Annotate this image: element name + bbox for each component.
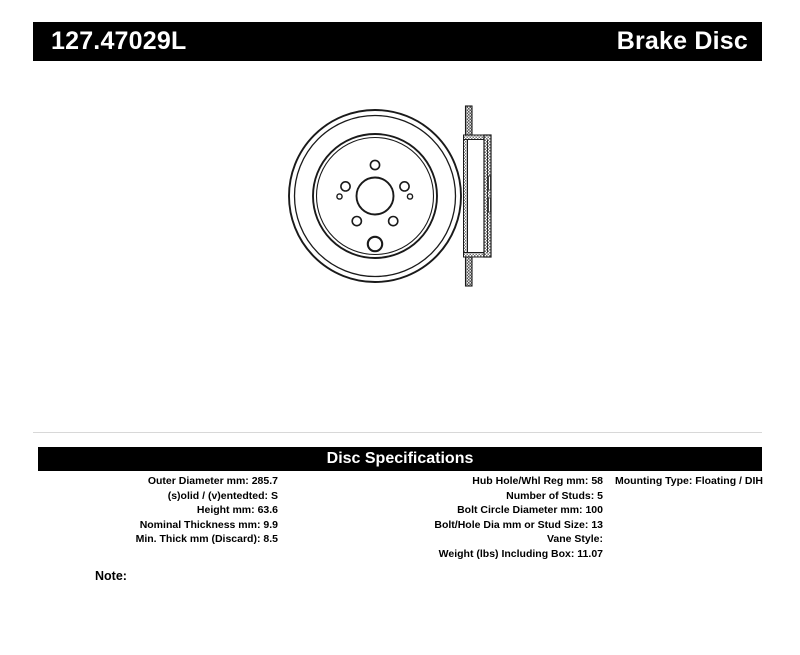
spec-row: Bolt Circle Diameter mm: 100 [291,503,603,518]
specs-column-middle: Hub Hole/Whl Reg mm: 58 Number of Studs:… [291,474,603,562]
lug-hole-3 [389,217,398,226]
header-bar: 127.47029L Brake Disc [33,22,762,61]
section-divider [33,432,762,433]
specs-column-left: Outer Diameter mm: 285.7 (s)olid / (v)en… [33,474,278,547]
spec-label: Vane Style: [547,533,603,545]
edge-view-slot-mark-lower [489,198,491,212]
spec-row: Weight (lbs) Including Box: 11.07 [291,547,603,562]
specifications-table: Outer Diameter mm: 285.7 (s)olid / (v)en… [33,474,762,594]
spec-label: Min. Thick mm (Discard): [136,533,261,545]
rotor-face-view [289,110,461,282]
rotor-center-hub-bore [357,178,394,215]
spec-row: Vane Style: [291,532,603,547]
lug-hole-5 [341,182,350,191]
note-label: Note: [95,569,127,583]
spec-value: 13 [591,519,603,531]
spec-row: Outer Diameter mm: 285.7 [33,474,278,489]
spec-value: 63.6 [258,504,278,516]
brake-disc-technical-drawing [33,72,762,422]
spec-row: Number of Studs: 5 [291,489,603,504]
alignment-hole-left [337,194,342,199]
spec-row: Mounting Type: Floating / DIH [615,474,800,489]
spec-label: Nominal Thickness mm: [140,519,261,531]
spec-label: (s)olid / (v)entedted: [168,490,268,502]
part-number-label: 127.47029L [51,29,186,54]
alignment-hole-right [407,194,412,199]
spec-label: Bolt Circle Diameter mm: [457,504,582,516]
spec-label: Weight (lbs) Including Box: [439,548,575,560]
spec-value: Floating / DIH [695,475,763,487]
rotor-edge-section-view [464,106,492,286]
spec-label: Bolt/Hole Dia mm or Stud Size: [434,519,588,531]
spec-label: Hub Hole/Whl Reg mm: [472,475,588,487]
lug-hole-4 [352,217,361,226]
spec-row: Height mm: 63.6 [33,503,278,518]
lug-hole-2 [400,182,409,191]
spec-value: 100 [585,504,603,516]
specs-column-right: Mounting Type: Floating / DIH [615,474,800,489]
note-block: Note: [95,569,127,583]
edge-view-hat-wall [464,135,468,257]
spec-label: Height mm: [197,504,255,516]
disc-specifications-bar: Disc Specifications [38,447,762,471]
extraction-hole [368,237,382,251]
spec-row: Hub Hole/Whl Reg mm: 58 [291,474,603,489]
spec-row: Min. Thick mm (Discard): 8.5 [33,532,278,547]
edge-view-lower-flange-tab [466,256,473,286]
spec-value: S [271,490,278,502]
spec-label: Outer Diameter mm: [148,475,249,487]
lug-hole-1 [370,160,379,169]
spec-value: 285.7 [252,475,278,487]
spec-value: 8.5 [263,533,278,545]
product-drawing [33,72,762,422]
spec-row: Bolt/Hole Dia mm or Stud Size: 13 [291,518,603,533]
spec-label: Number of Studs: [506,490,594,502]
spec-value: 58 [591,475,603,487]
edge-view-upper-flange-tab [466,106,473,136]
spec-value: 11.07 [577,548,603,560]
product-type-label: Brake Disc [617,29,748,54]
spec-row: (s)olid / (v)entedted: S [33,489,278,504]
specs-section-title: Disc Specifications [327,451,474,467]
spec-label: Mounting Type: [615,475,692,487]
spec-value: 9.9 [263,519,278,531]
spec-value: 5 [597,490,603,502]
spec-row: Nominal Thickness mm: 9.9 [33,518,278,533]
edge-view-slot-mark-upper [489,176,491,190]
